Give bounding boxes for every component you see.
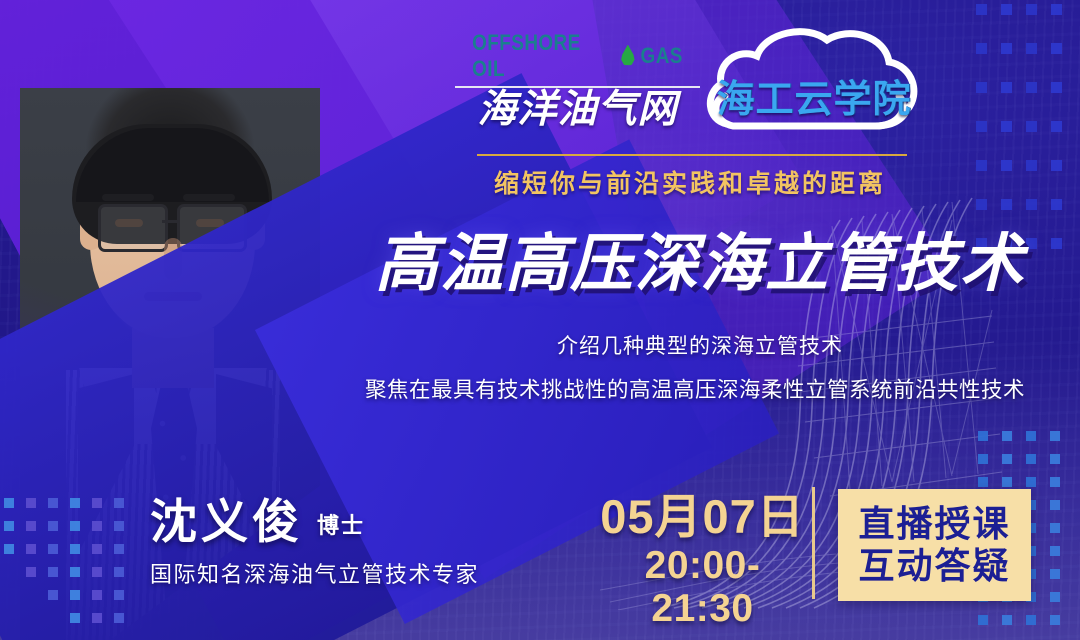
schedule-block: 05月07日 20:00-21:30 xyxy=(595,492,810,631)
schedule-time: 20:00-21:30 xyxy=(595,545,810,631)
speaker-name: 沈义俊 xyxy=(150,498,303,545)
speaker-info: 沈义俊 博士 国际知名深海油气立管技术专家 xyxy=(150,498,479,589)
webinar-poster: OFFSHORE OIL GAS 海洋油气网 海工云学院 缩短你与前沿实践和卓越… xyxy=(0,0,1080,640)
subtitle-line-2: 聚焦在最具有技术挑战性的高温高压深海柔性立管系统前沿共性技术 xyxy=(330,373,1060,404)
tagline-divider xyxy=(477,154,907,156)
badge-line-2: 互动答疑 xyxy=(858,546,1010,586)
brand-english-line: OFFSHORE OIL GAS xyxy=(472,30,683,82)
badge-line-1: 直播授课 xyxy=(858,504,1010,544)
cloud-academy-label: 海工云学院 xyxy=(703,68,925,123)
brand-mark: OFFSHORE OIL GAS 海洋油气网 xyxy=(455,30,700,131)
brand-logo-block: OFFSHORE OIL GAS 海洋油气网 海工云学院 缩短你与前沿实践和卓越… xyxy=(455,22,925,172)
brand-english-left: OFFSHORE OIL xyxy=(472,30,615,82)
brand-chinese-name: 海洋油气网 xyxy=(455,90,700,131)
dot-grid-bottom-left xyxy=(4,498,136,636)
subtitle-line-1: 介绍几种典型的深海立管技术 xyxy=(360,330,1040,360)
status-badge: 直播授课 互动答疑 xyxy=(838,489,1031,601)
oil-droplet-icon xyxy=(621,45,634,66)
schedule-date: 05月07日 xyxy=(595,492,810,541)
brand-tagline: 缩短你与前沿实践和卓越的距离 xyxy=(455,164,925,200)
cloud-academy-logo: 海工云学院 xyxy=(703,22,925,134)
brand-english-right: GAS xyxy=(641,43,683,69)
speaker-degree: 博士 xyxy=(317,508,365,545)
page-title: 高温高压深海立管技术 xyxy=(360,233,1040,296)
speaker-description: 国际知名深海油气立管技术专家 xyxy=(150,557,479,589)
schedule-badge-divider xyxy=(812,487,815,599)
